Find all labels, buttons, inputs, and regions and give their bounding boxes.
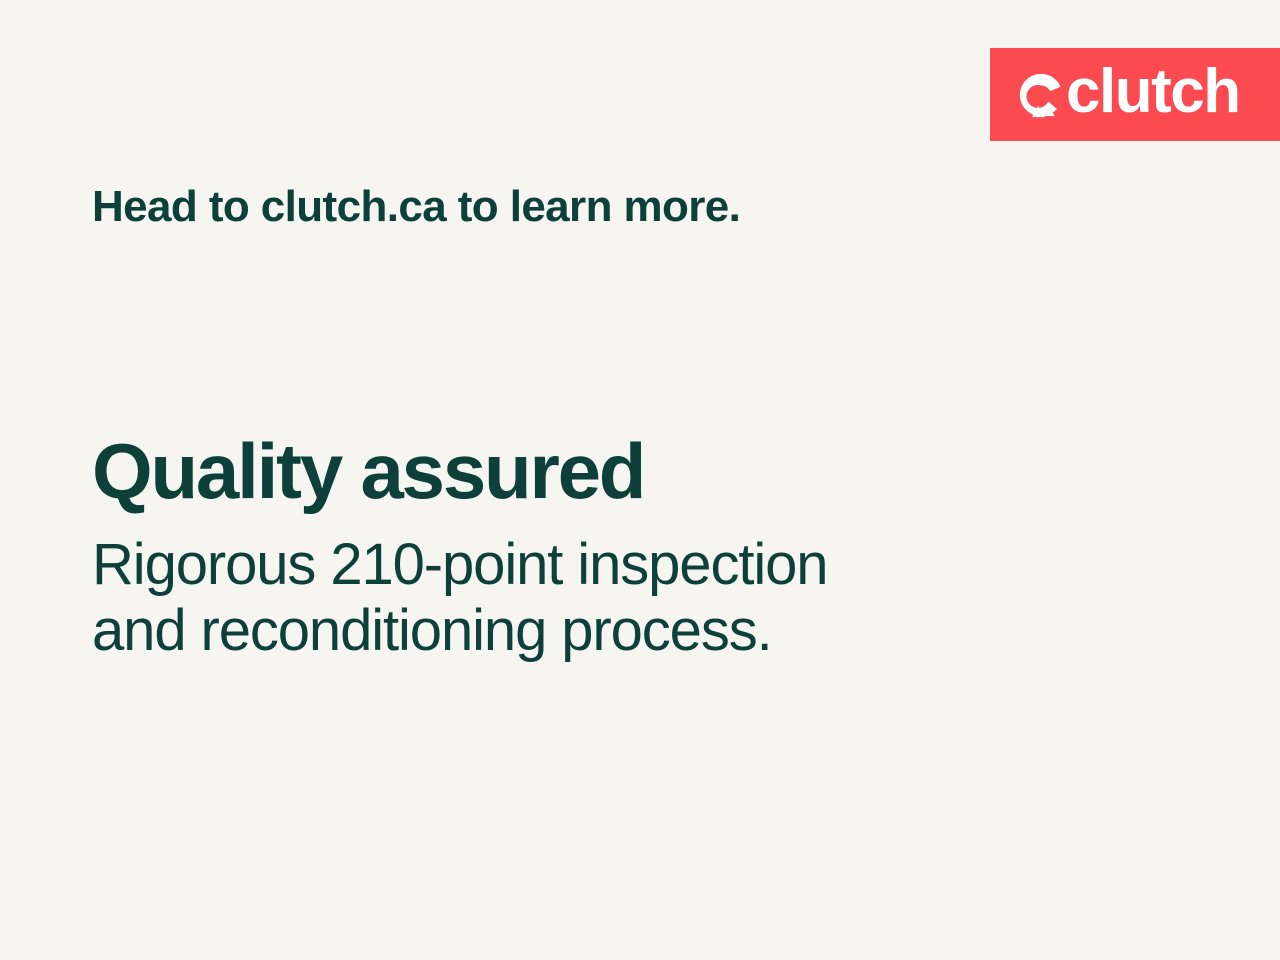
subcopy: Rigorous 210-point inspection and recond…: [92, 532, 972, 664]
tagline: Head to clutch.ca to learn more.: [92, 182, 740, 233]
clutch-c-mark-icon: [1018, 72, 1064, 118]
slide-canvas: clutch Head to clutch.ca to learn more. …: [0, 0, 1280, 960]
subcopy-line: Rigorous 210-point inspection: [92, 532, 972, 598]
clutch-logo[interactable]: clutch: [1018, 64, 1240, 126]
subcopy-line: and reconditioning process.: [92, 598, 972, 664]
page-title: Quality assured: [92, 432, 1092, 510]
brand-banner: clutch: [990, 48, 1280, 141]
clutch-wordmark: clutch: [1066, 61, 1240, 123]
message-block: Quality assured Rigorous 210-point inspe…: [92, 432, 1092, 664]
